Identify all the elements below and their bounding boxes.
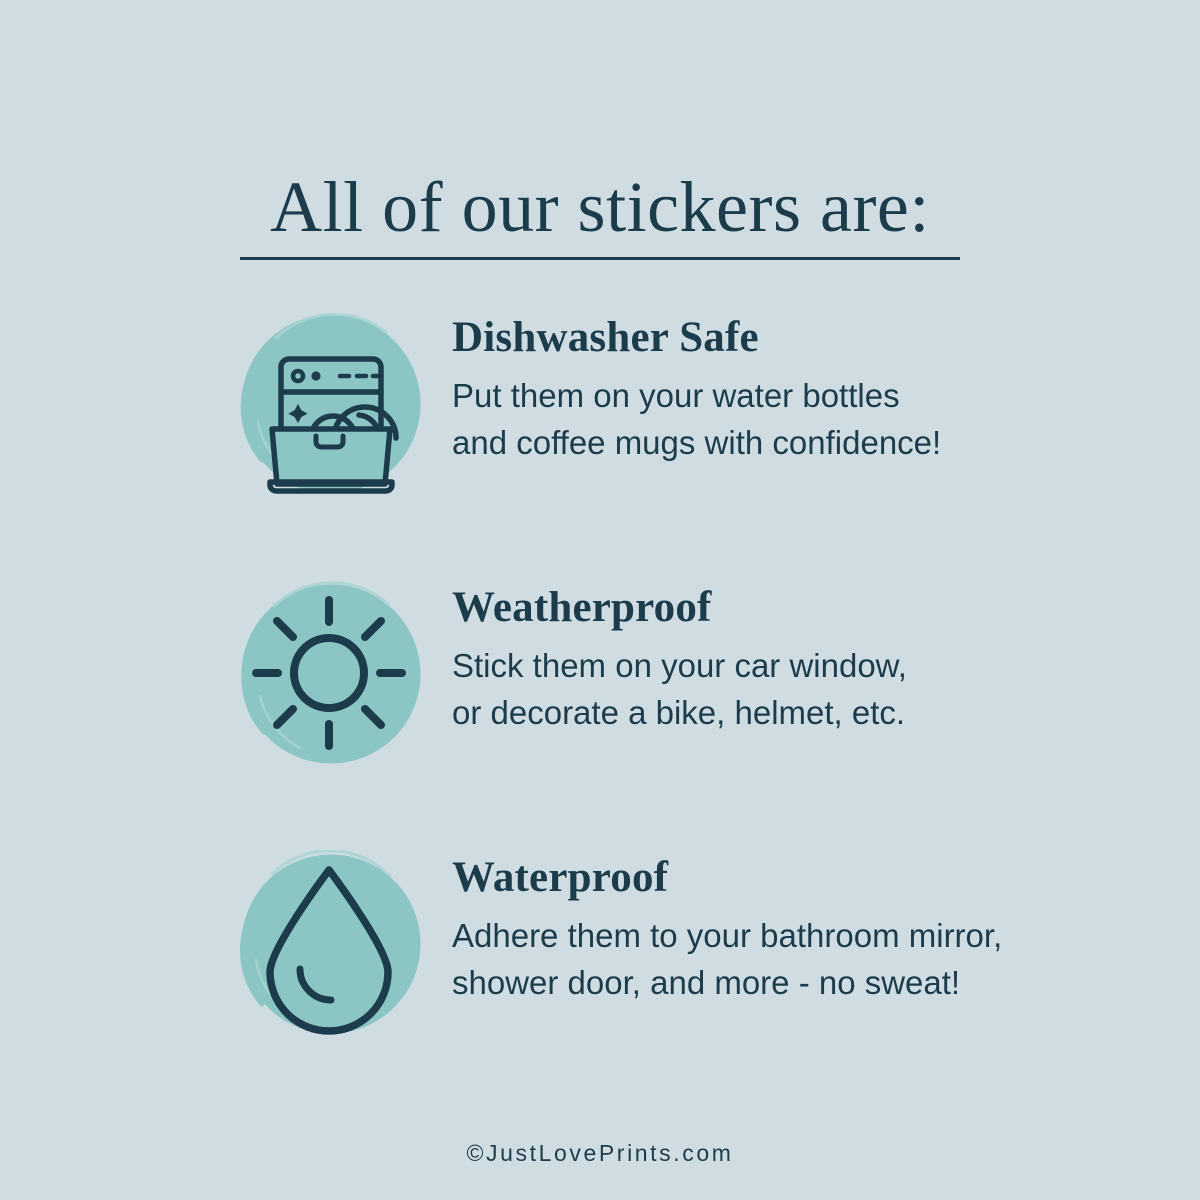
feature-text-dishwasher: Dishwasher Safe Put them on your water b…: [452, 316, 1152, 467]
sun-icon: [236, 580, 422, 766]
feature-row-weatherproof: Weatherproof Stick them on your car wind…: [0, 580, 1200, 780]
footer-credit: ©JustLovePrints.com: [0, 1140, 1200, 1167]
feature-heading: Waterproof: [452, 856, 1152, 899]
feature-text-weatherproof: Weatherproof Stick them on your car wind…: [452, 586, 1152, 737]
title-divider: [240, 257, 960, 260]
sticker-features-poster: All of our stickers are:: [0, 0, 1200, 1200]
feature-heading: Weatherproof: [452, 586, 1152, 629]
feature-heading: Dishwasher Safe: [452, 316, 1152, 359]
page-title: All of our stickers are:: [240, 170, 960, 246]
feature-row-waterproof: Waterproof Adhere them to your bathroom …: [0, 850, 1200, 1050]
feature-body: Adhere them to your bathroom mirror, sho…: [452, 913, 1152, 1007]
feature-text-waterproof: Waterproof Adhere them to your bathroom …: [452, 856, 1152, 1007]
water-droplet-icon: [236, 850, 422, 1036]
dishwasher-icon: [236, 310, 422, 496]
feature-body: Stick them on your car window, or decora…: [452, 643, 1152, 737]
feature-body: Put them on your water bottles and coffe…: [452, 373, 1152, 467]
feature-row-dishwasher: Dishwasher Safe Put them on your water b…: [0, 310, 1200, 510]
